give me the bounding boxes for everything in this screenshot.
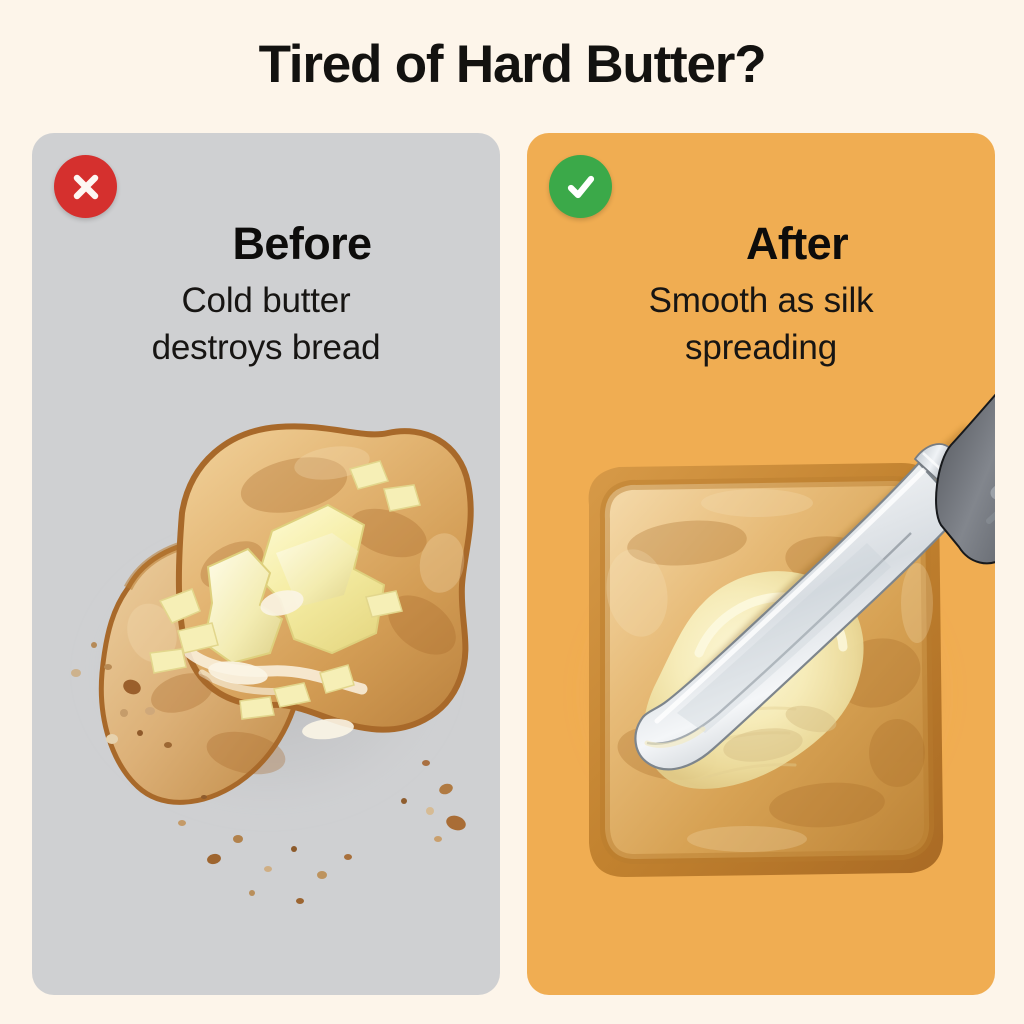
promo-graphic: Tired of Hard Butter? (0, 0, 1024, 1024)
panel-after-heading: After (617, 218, 977, 270)
check-mark-icon (563, 169, 599, 205)
page-title: Tired of Hard Butter? (0, 34, 1024, 95)
panel-after-subtitle-line2: spreading (567, 325, 955, 372)
panel-after-subtitle: Smooth as silk spreading (567, 278, 955, 371)
panel-before-subtitle-line1: Cold butter (72, 278, 460, 325)
panel-before: Before Cold butter destroys bread (32, 133, 500, 995)
panel-after: 50 ° After Smooth as silk spreading (527, 133, 995, 995)
x-mark-icon (69, 170, 103, 204)
panel-before-subtitle: Cold butter destroys bread (72, 278, 460, 371)
panel-after-subtitle-line1: Smooth as silk (567, 278, 955, 325)
panel-before-heading: Before (122, 218, 482, 270)
panel-before-subtitle-line2: destroys bread (72, 325, 460, 372)
x-circle-icon (54, 155, 117, 218)
check-circle-icon (549, 155, 612, 218)
